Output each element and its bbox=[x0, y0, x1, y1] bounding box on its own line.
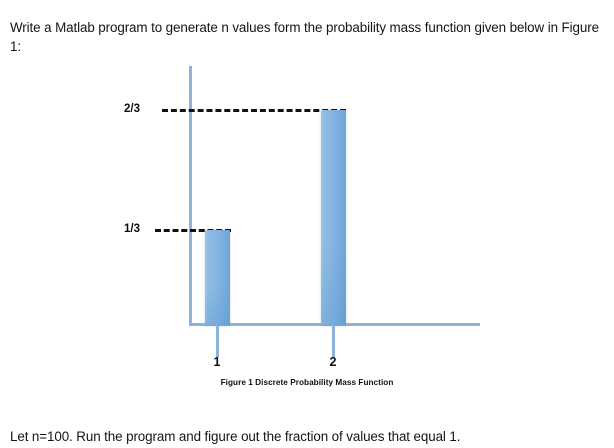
closing-paragraph: Let n=100. Run the program and figure ou… bbox=[10, 427, 606, 446]
bar-value-1 bbox=[205, 230, 230, 325]
guide-line-two-thirds bbox=[162, 109, 346, 112]
x-tick-mark-1 bbox=[216, 325, 219, 357]
x-tick-label-1: 1 bbox=[202, 355, 232, 369]
x-tick-mark-2 bbox=[332, 325, 335, 357]
y-tick-label-one-third: 1/3 bbox=[124, 223, 164, 235]
x-tick-label-2: 2 bbox=[318, 355, 348, 369]
intro-paragraph: Write a Matlab program to generate n val… bbox=[10, 18, 606, 56]
bar-value-2 bbox=[321, 110, 346, 325]
figure-caption: Figure 1 Discrete Probability Mass Funct… bbox=[0, 378, 614, 387]
probability-mass-function-chart: 2/3 1/3 1 2 bbox=[0, 55, 614, 380]
figure-1: 2/3 1/3 1 2 Figure 1 Discrete Probabilit… bbox=[0, 55, 614, 400]
y-tick-label-two-thirds: 2/3 bbox=[124, 103, 164, 115]
y-axis-line bbox=[189, 66, 192, 326]
